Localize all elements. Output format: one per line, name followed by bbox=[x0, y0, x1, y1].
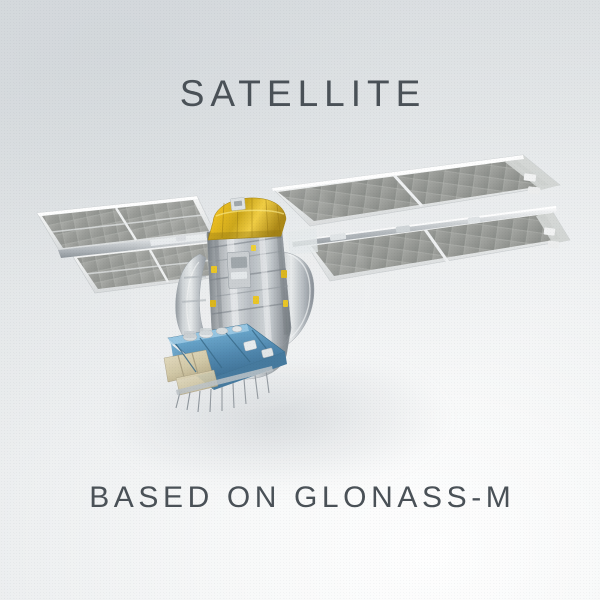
image-canvas: SATELLITE BASED ON GLONASS-M bbox=[0, 0, 600, 600]
page-title: SATELLITE bbox=[0, 74, 600, 114]
page-subtitle: BASED ON GLONASS-M bbox=[0, 481, 600, 515]
